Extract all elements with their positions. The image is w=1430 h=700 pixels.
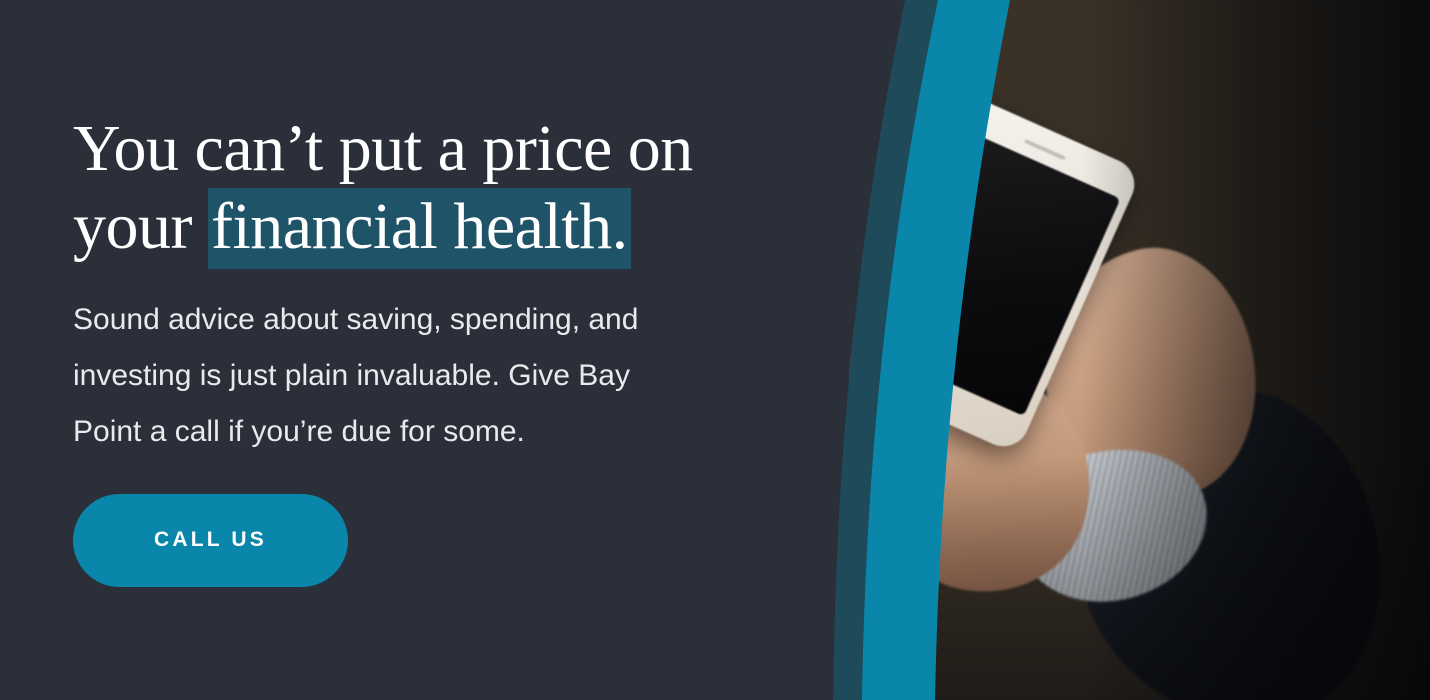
headline-highlight: financial health. — [208, 188, 631, 269]
financial-health-hero-banner: You can’t put a price on your financial … — [0, 0, 1430, 700]
call-us-button[interactable]: CALL US — [73, 494, 348, 587]
hero-photo — [830, 0, 1430, 700]
subcopy-line-3: Point a call if you’re due for some. — [73, 404, 793, 460]
page-title: You can’t put a price on your financial … — [73, 110, 773, 266]
subcopy-line-1: Sound advice about saving, spending, and — [73, 292, 793, 348]
hero-content: You can’t put a price on your financial … — [73, 0, 833, 700]
subcopy-line-2: investing is just plain invaluable. Give… — [73, 348, 793, 404]
photo-vignette-overlay — [830, 0, 1430, 700]
headline-line-2-prefix: your — [73, 190, 208, 263]
headline-line-2: your financial health. — [73, 188, 773, 266]
headline-line-1: You can’t put a price on — [73, 110, 773, 188]
hero-description: Sound advice about saving, spending, and… — [73, 292, 793, 460]
